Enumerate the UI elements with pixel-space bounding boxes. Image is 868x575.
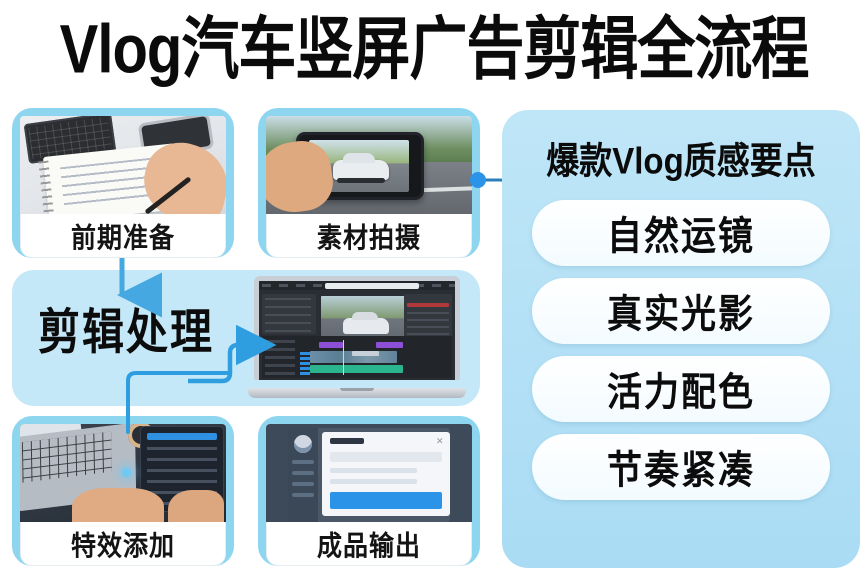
highlight-item-4[interactable]: 节奏紧凑 (532, 434, 830, 500)
sidebar-row (292, 493, 314, 497)
laptop-screen (254, 276, 460, 380)
workflow-card-export-label: 成品输出 (317, 524, 421, 564)
highlight-item-2-label: 真实光影 (607, 282, 755, 339)
avatar (294, 435, 312, 453)
workflow-card-fx[interactable]: 特效添加 (12, 416, 234, 566)
highlights-panel-title: 爆款Vlog质感要点 (524, 131, 838, 185)
timeline-playhead (343, 340, 344, 375)
timeline-tracks (298, 340, 448, 375)
sidebar-row (292, 471, 314, 475)
glow-dot (122, 468, 131, 477)
highlight-item-4-label: 节奏紧凑 (607, 438, 755, 495)
editor-project-panel (262, 294, 316, 334)
car-shape (333, 160, 389, 180)
export-app-window: ✕ (288, 428, 450, 522)
workflow-card-prep[interactable]: 前期准备 (12, 108, 234, 258)
page-title-bar: Vlog汽车竖屏广告剪辑全流程 (0, 0, 868, 100)
highlight-item-2[interactable]: 真实光影 (532, 278, 830, 344)
workflow-section: 剪辑处理 (8, 104, 490, 570)
timeline-track-headers (265, 340, 295, 375)
workflow-card-fx-caption: 特效添加 (20, 522, 226, 566)
workflow-card-prep-caption: 前期准备 (20, 214, 226, 258)
close-icon[interactable]: ✕ (436, 438, 443, 445)
dialog-submit-button (330, 492, 442, 509)
hand-shape (72, 488, 164, 522)
workflow-card-shoot[interactable]: 素材拍摄 (258, 108, 480, 258)
infographic-canvas: Vlog汽车竖屏广告剪辑全流程 剪辑处理 (0, 0, 868, 575)
export-dialog: ✕ (322, 432, 450, 516)
dialog-title-bar (330, 438, 364, 444)
dialog-input-field (330, 452, 442, 462)
page-title: Vlog汽车竖屏广告剪辑全流程 (60, 16, 809, 84)
highlight-item-1[interactable]: 自然运镜 (532, 200, 830, 266)
dialog-text-row (330, 468, 417, 473)
workflow-card-shoot-thumbnail (266, 116, 472, 214)
editor-timeline (262, 336, 452, 378)
workflow-card-export-caption: 成品输出 (266, 522, 472, 566)
hand-shape (168, 490, 224, 522)
editor-searchbar (325, 283, 419, 289)
workflow-card-prep-label: 前期准备 (71, 216, 175, 256)
sidebar-row (292, 482, 314, 486)
laptop-base (248, 388, 466, 398)
editing-stage-label: 剪辑处理 (38, 293, 214, 363)
preview-car-shape (343, 318, 389, 334)
workflow-card-prep-thumbnail (20, 116, 226, 214)
workflow-card-fx-thumbnail (20, 424, 226, 522)
highlight-item-1-label: 自然运镜 (607, 204, 755, 261)
workflow-card-export[interactable]: ✕ 成品输出 (258, 416, 480, 566)
timeline-clip (352, 351, 379, 356)
workflow-card-export-thumbnail: ✕ (266, 424, 472, 522)
dialog-text-row (330, 479, 417, 484)
highlight-item-3-label: 活力配色 (607, 360, 755, 417)
timeline-clip (310, 365, 403, 373)
workflow-card-shoot-label: 素材拍摄 (317, 216, 421, 256)
workflow-card-fx-label: 特效添加 (71, 524, 175, 564)
laptop-video-editor-illustration (248, 276, 466, 402)
app-sidebar (288, 428, 318, 522)
workflow-card-shoot-caption: 素材拍摄 (266, 214, 472, 258)
highlight-item-3[interactable]: 活力配色 (532, 356, 830, 422)
sidebar-row (292, 460, 314, 464)
timeline-clip (376, 342, 403, 348)
editing-stage-band: 剪辑处理 (12, 270, 480, 406)
highlights-panel: 爆款Vlog质感要点 自然运镜 真实光影 活力配色 节奏紧凑 (502, 110, 860, 568)
video-editor-ui (259, 281, 455, 380)
timeline-clip (319, 342, 343, 348)
